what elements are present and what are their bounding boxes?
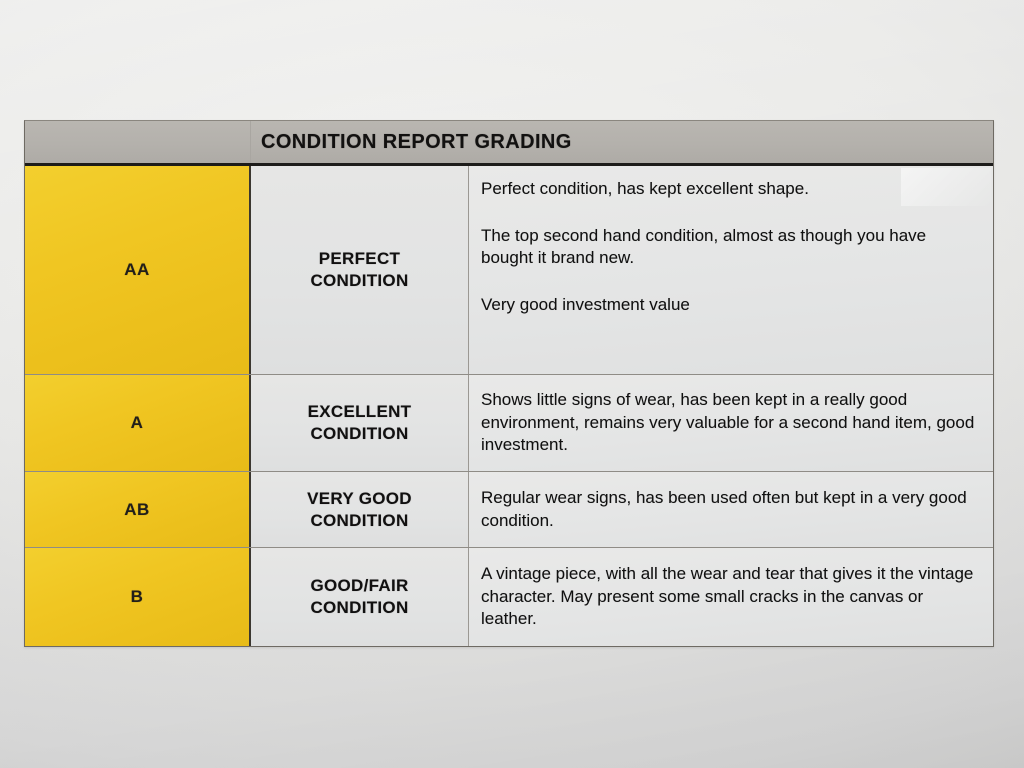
condition-label-line2: CONDITION — [310, 597, 408, 619]
description-cell-aa: Perfect condition, has kept excellent sh… — [469, 166, 993, 374]
description-cell-ab: Regular wear signs, has been used often … — [469, 472, 993, 547]
page-title: CONDITION REPORT GRADING — [251, 131, 993, 154]
description-cell-a: Shows little signs of wear, has been kep… — [469, 375, 993, 471]
description-paragraph: Very good investment value — [481, 294, 979, 317]
condition-report-grading-table: CONDITION REPORT GRADING AA PERFECT COND… — [24, 120, 994, 647]
condition-label-line2: CONDITION — [310, 270, 408, 292]
grade-letter: B — [131, 587, 144, 607]
grade-letter: AB — [124, 500, 150, 520]
description-cell-b: A vintage piece, with all the wear and t… — [469, 548, 993, 646]
condition-label-cell-a: EXCELLENT CONDITION — [251, 375, 469, 471]
table-row: AB VERY GOOD CONDITION Regular wear sign… — [25, 472, 993, 548]
condition-label-line1: GOOD/FAIR — [310, 575, 408, 597]
condition-label-line1: VERY GOOD — [307, 488, 412, 510]
condition-label-line1: EXCELLENT — [308, 401, 412, 423]
description-paragraph: Shows little signs of wear, has been kep… — [481, 389, 979, 457]
condition-label-line2: CONDITION — [310, 510, 408, 532]
description-paragraph: A vintage piece, with all the wear and t… — [481, 563, 979, 631]
grade-cell-a: A — [25, 375, 251, 471]
title-bar-gutter — [25, 121, 251, 163]
grade-letter: AA — [124, 260, 150, 280]
grade-letter: A — [131, 413, 144, 433]
table-title-bar: CONDITION REPORT GRADING — [25, 121, 993, 166]
table-row: AA PERFECT CONDITION Perfect condition, … — [25, 166, 993, 375]
grade-cell-aa: AA — [25, 166, 251, 374]
table-row: A EXCELLENT CONDITION Shows little signs… — [25, 375, 993, 472]
grade-cell-b: B — [25, 548, 251, 646]
description-paragraph: Perfect condition, has kept excellent sh… — [481, 178, 979, 201]
description-paragraph: The top second hand condition, almost as… — [481, 225, 979, 270]
description-paragraph: Regular wear signs, has been used often … — [481, 487, 979, 532]
table-row: B GOOD/FAIR CONDITION A vintage piece, w… — [25, 548, 993, 646]
grade-cell-ab: AB — [25, 472, 251, 547]
condition-label-line2: CONDITION — [310, 423, 408, 445]
condition-label-cell-b: GOOD/FAIR CONDITION — [251, 548, 469, 646]
condition-label-line1: PERFECT — [319, 248, 400, 270]
condition-label-cell-ab: VERY GOOD CONDITION — [251, 472, 469, 547]
condition-label-cell-aa: PERFECT CONDITION — [251, 166, 469, 374]
